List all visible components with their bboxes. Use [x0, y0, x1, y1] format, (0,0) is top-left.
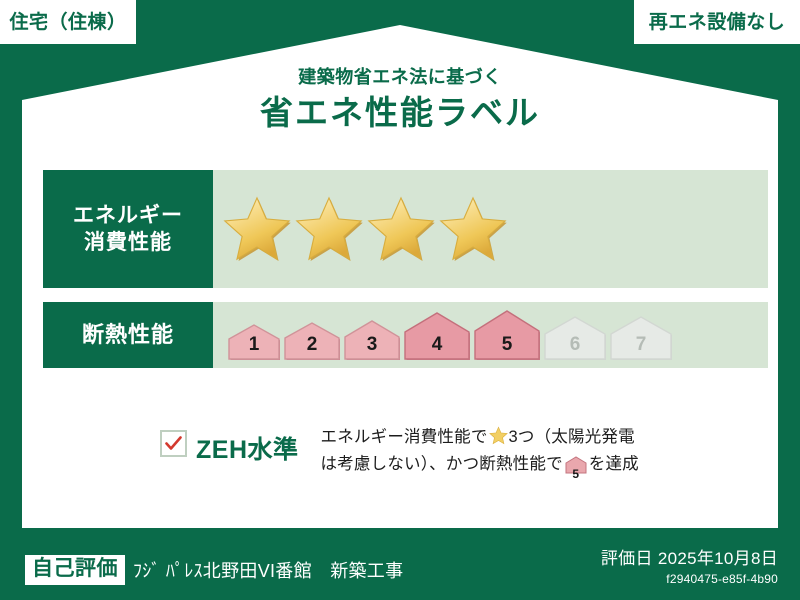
row-insulation-performance: 断熱性能 1234567 — [43, 302, 768, 368]
star-icon — [363, 193, 439, 265]
zeh-desc-l1-a: エネルギー消費性能で — [321, 428, 488, 446]
insulation-grade-number: 7 — [610, 335, 672, 354]
row-energy-body — [213, 170, 768, 288]
row-insulation-body: 1234567 — [213, 302, 768, 368]
page-title: 省エネ性能ラベル — [0, 94, 800, 132]
row-energy-label: エネルギー 消費性能 — [43, 170, 213, 288]
evaluation-date: 評価日 2025年10月8日 — [601, 548, 778, 570]
zeh-standard-label: ZEH水準 — [196, 430, 299, 466]
star-icon — [219, 193, 295, 265]
tag-building-type-label: 住宅（住棟） — [9, 13, 126, 32]
insulation-grade-badge: 1 — [228, 324, 280, 360]
insulation-grade-badge: 2 — [284, 322, 340, 360]
row-energy-performance: エネルギー 消費性能 — [43, 170, 768, 288]
insulation-grade-number: 5 — [474, 335, 540, 354]
property-name: ﾌｼﾞ ﾊﾟﾚｽ北野田VI番館 新築工事 — [133, 557, 403, 583]
footer-bar: 自己評価 ﾌｼﾞ ﾊﾟﾚｽ北野田VI番館 新築工事 評価日 2025年10月8日… — [0, 540, 800, 600]
row-insulation-label: 断熱性能 — [43, 302, 213, 368]
insulation-grade-number: 2 — [284, 335, 340, 354]
energy-performance-label: 住宅（住棟） 再エネ設備なし 建築物省エネ法に基づく 省エネ性能ラベル エネルギ… — [0, 0, 800, 600]
star-rating — [219, 193, 507, 265]
tag-building-type: 住宅（住棟） — [0, 0, 136, 44]
label-subtitle: 建築物省エネ法に基づく — [0, 68, 800, 88]
zeh-description: エネルギー消費性能で 3つ（太陽光発電 は考慮しない）、かつ断熱性能で 5 を達… — [321, 424, 639, 482]
insulation-grade-badge: 5 — [474, 310, 540, 360]
star-body — [225, 198, 289, 259]
zeh-section: ZEH水準 エネルギー消費性能で 3つ（太陽光発電 は考慮しない）、かつ断熱性能… — [160, 424, 639, 482]
star-icon — [291, 193, 367, 265]
insulation-grade-number: 4 — [404, 335, 470, 354]
insulation-grade-badge: 7 — [610, 316, 672, 360]
star-icon — [489, 426, 508, 445]
zeh-description-line2: は考慮しない）、かつ断熱性能で 5 を達成 — [321, 451, 639, 483]
insulation-grade-badge: 3 — [344, 320, 400, 360]
star-body — [369, 198, 433, 259]
insulation-grade-scale: 1234567 — [228, 302, 676, 368]
evaluation-date-value: 2025年10月8日 — [658, 549, 778, 568]
title-block: 建築物省エネ法に基づく 省エネ性能ラベル — [0, 68, 800, 132]
footer-left-group: 自己評価 ﾌｼﾞ ﾊﾟﾚｽ北野田VI番館 新築工事 — [25, 555, 403, 584]
insulation-grade-badge: 4 — [404, 312, 470, 360]
evaluation-date-label: 評価日 — [601, 549, 653, 568]
zeh-desc-l1-b: 3つ（太陽光発電 — [509, 428, 635, 446]
zeh-desc-l2-a: は考慮しない）、かつ断熱性能で — [321, 455, 563, 473]
zeh-desc-l2-b: を達成 — [589, 455, 639, 473]
evaluation-type-chip: 自己評価 — [25, 555, 125, 584]
star-icon — [435, 193, 511, 265]
footer-right-group: 評価日 2025年10月8日 f2940475-e85f-4b90 — [601, 548, 778, 588]
tag-renewable-energy: 再エネ設備なし — [634, 0, 800, 44]
insulation-grade-number: 1 — [228, 335, 280, 354]
zeh-description-line1: エネルギー消費性能で 3つ（太陽光発電 — [321, 424, 639, 451]
zeh-checkbox[interactable] — [160, 430, 187, 457]
row-insulation-label-text: 断熱性能 — [82, 321, 174, 350]
performance-rows: エネルギー 消費性能 断熱性能 1234567 — [43, 170, 768, 382]
tag-renewable-energy-label: 再エネ設備なし — [649, 13, 786, 32]
row-energy-label-line2: 消費性能 — [84, 229, 172, 256]
star-body — [297, 198, 361, 259]
insulation-grade-number: 3 — [344, 335, 400, 354]
evaluation-id: f2940475-e85f-4b90 — [601, 571, 778, 588]
check-icon — [164, 434, 183, 453]
inline-grade-badge: 5 — [565, 456, 587, 483]
star-body — [441, 198, 505, 259]
insulation-grade-number: 6 — [544, 335, 606, 354]
insulation-grade-badge: 6 — [544, 316, 606, 360]
inline-grade-badge-number: 5 — [565, 468, 587, 480]
row-energy-label-line1: エネルギー — [73, 202, 183, 229]
